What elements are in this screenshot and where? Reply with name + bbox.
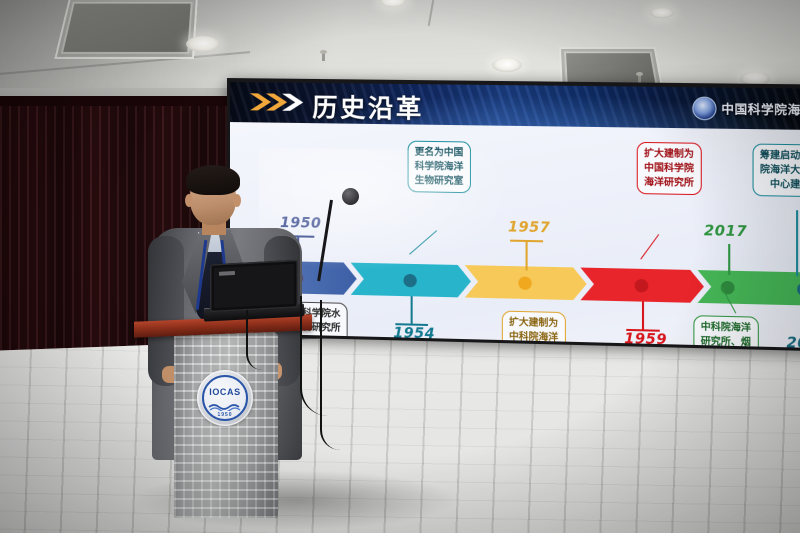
callout-leader-1954 bbox=[409, 230, 437, 255]
callout-line: 更名为中国 bbox=[415, 146, 464, 161]
presenter-hair bbox=[186, 165, 240, 195]
cable bbox=[320, 300, 340, 450]
timeline-stem-1959 bbox=[642, 302, 644, 331]
double-chevron-icon bbox=[249, 92, 305, 112]
callout-leader-1959 bbox=[640, 234, 659, 260]
callout-1959: 扩大建制为 中国科学院 海洋研究所 bbox=[637, 142, 702, 196]
timeline-year-2017: 2017 bbox=[704, 223, 747, 240]
ceiling-downlight bbox=[650, 8, 674, 18]
timeline-stem-1954 bbox=[411, 296, 413, 324]
brand-lockup: 中国科学院海洋 bbox=[693, 96, 800, 121]
callout-line: 中国科学院 bbox=[644, 161, 694, 176]
timeline-year-2018: 2018 bbox=[786, 335, 800, 348]
gooseneck-microphone bbox=[326, 188, 366, 284]
curtain-rail bbox=[0, 96, 238, 106]
lectern: IOCAS 1950 bbox=[134, 318, 312, 518]
callout-2017: 中科院海洋 研究所、烟 台海岸带所 融合发展 bbox=[693, 315, 758, 348]
callout-line: 研究所、烟 bbox=[701, 335, 751, 349]
brand-text: 中国科学院海洋 bbox=[721, 100, 800, 119]
ceiling-downlight bbox=[492, 58, 522, 72]
timeline-stem-1957 bbox=[526, 240, 528, 271]
emblem-year: 1950 bbox=[197, 412, 253, 418]
callout-line: 中心建设 bbox=[760, 177, 800, 192]
microphone-head bbox=[342, 188, 359, 205]
timeline-year-1959: 1959 bbox=[624, 331, 667, 348]
cas-seal-icon bbox=[693, 96, 717, 120]
callout-line: 海洋研究所 bbox=[644, 175, 694, 190]
timeline-year-1954: 1954 bbox=[393, 325, 435, 342]
callout-1954: 更名为中国 科学院海洋 生物研究室 bbox=[408, 141, 471, 194]
laptop-logo bbox=[219, 271, 235, 276]
ceiling-downlight bbox=[186, 36, 220, 52]
callout-line: 中科院海洋 bbox=[701, 320, 751, 335]
callout-line: 生物研究室 bbox=[415, 174, 464, 189]
callout-1957: 扩大建制为 中科院海洋 生物研究所 bbox=[502, 311, 566, 349]
presentation-photo-scene: 历史沿革 中国科学院海洋 bbox=[0, 0, 800, 533]
timeline-stem-2017 bbox=[728, 244, 730, 275]
slide-title: 历史沿革 bbox=[312, 88, 424, 126]
presenter-ear bbox=[233, 194, 241, 207]
timeline-segment-2017 bbox=[698, 270, 800, 306]
timeline-node-1959 bbox=[635, 279, 649, 293]
iocas-emblem: IOCAS 1950 bbox=[197, 370, 253, 426]
timeline-year-1957: 1957 bbox=[508, 219, 550, 236]
wave-emblem-icon bbox=[208, 400, 242, 411]
timeline-node-1954 bbox=[403, 274, 416, 287]
callout-leader-2018 bbox=[796, 210, 798, 276]
sprinkler-head bbox=[322, 52, 325, 61]
callout-line: 扩大建制为 bbox=[644, 147, 694, 162]
callout-line: 筹建启动中科 bbox=[760, 149, 800, 164]
laptop-lid bbox=[210, 260, 298, 313]
presenter-ear bbox=[185, 194, 193, 207]
hvac-vent bbox=[54, 0, 198, 59]
callout-line: 扩大建制为 bbox=[509, 316, 558, 331]
callout-line: 科学院海洋 bbox=[415, 160, 464, 175]
callout-2018: 筹建启动中科 院海洋大科学 中心建设 bbox=[752, 144, 800, 198]
timeline-tick-1957 bbox=[510, 240, 543, 242]
callout-line: 院海洋大科学 bbox=[760, 163, 800, 178]
slide-header-band: 历史沿革 中国科学院海洋 bbox=[230, 82, 800, 130]
emblem-acronym: IOCAS bbox=[197, 387, 253, 397]
callout-line: 中科院海洋 bbox=[509, 330, 558, 345]
timeline-node-1957 bbox=[518, 276, 531, 290]
cable bbox=[246, 310, 262, 370]
